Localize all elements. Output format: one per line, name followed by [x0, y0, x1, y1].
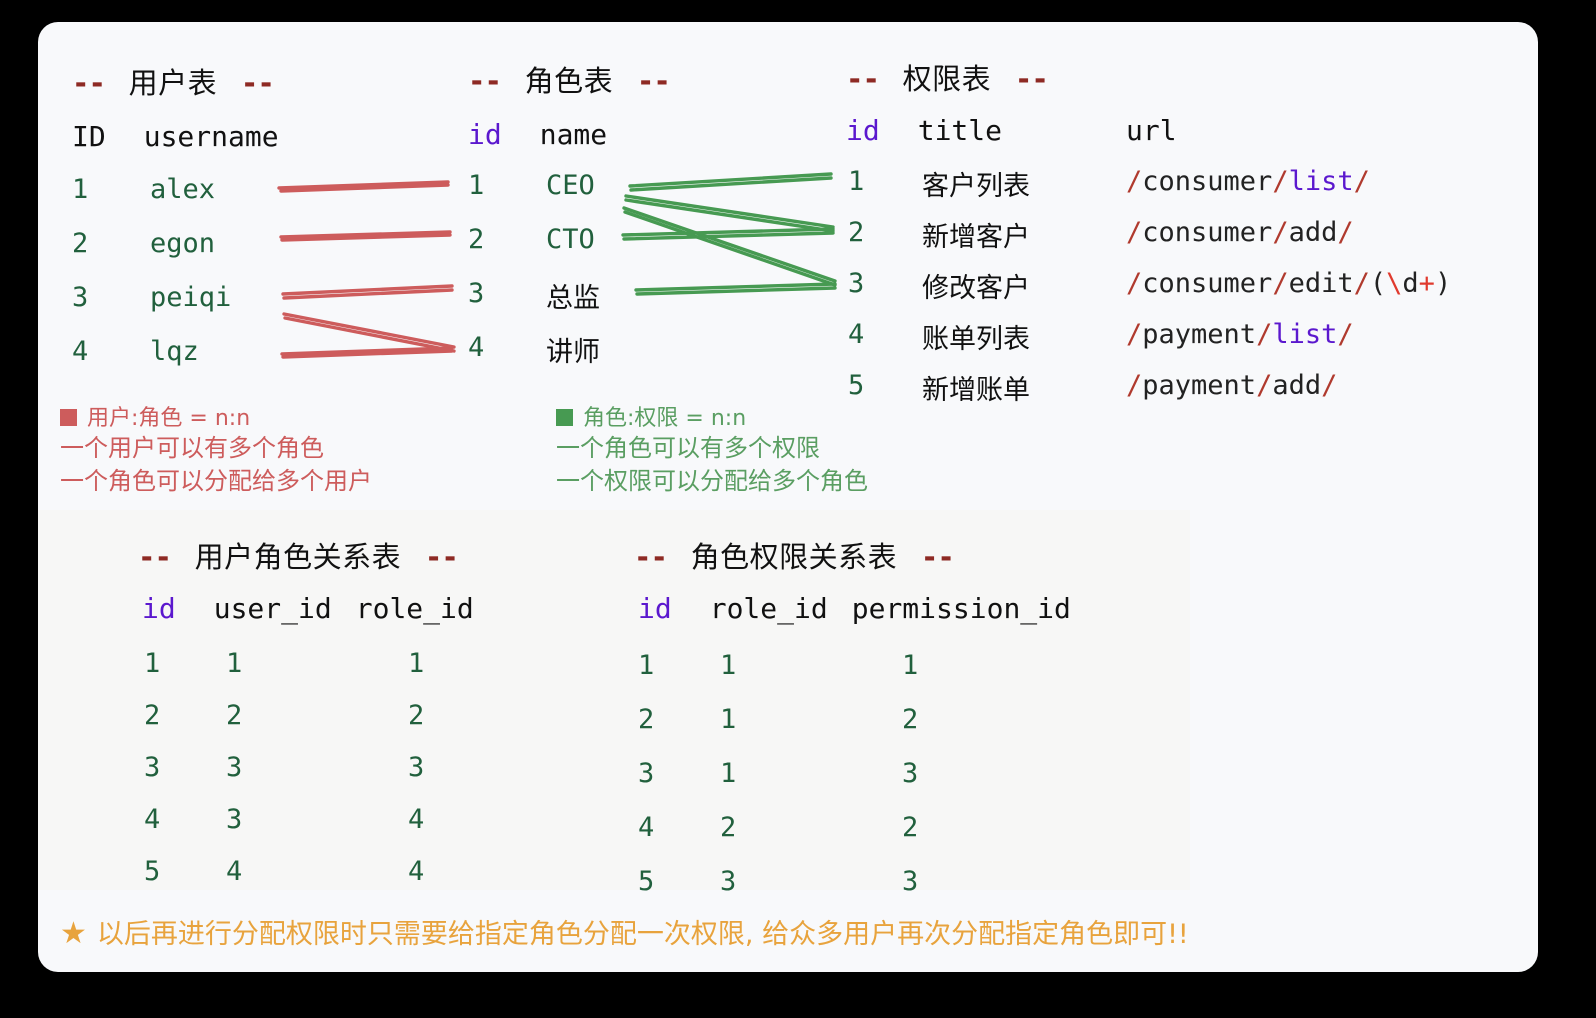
permission-col-id: id: [846, 114, 880, 147]
table-cell: 1: [408, 648, 424, 679]
table-cell: 2: [638, 704, 654, 735]
table-cell: 3: [902, 758, 918, 789]
user-role-table-title-text: 用户角色关系表: [195, 540, 402, 574]
user-table-title: -- 用户表 --: [72, 60, 274, 102]
legend-swatch-green-icon: [556, 409, 573, 426]
dash-marker-right: --: [637, 64, 670, 98]
table-cell: 讲师: [546, 330, 600, 369]
table-cell: 3: [226, 752, 242, 783]
dash-marker-right: --: [241, 66, 274, 100]
table-cell-url: /consumer/add/: [1126, 217, 1354, 248]
table-cell: 4: [144, 804, 160, 835]
permission-table-title: -- 权限表 --: [846, 56, 1048, 98]
dash-marker-left: --: [138, 540, 171, 574]
role-table-header: idname: [468, 118, 607, 151]
table-cell: 总监: [546, 276, 600, 315]
table-cell: 2: [720, 812, 736, 843]
table-cell: 新增客户: [922, 215, 1030, 254]
table-cell: 3: [144, 752, 160, 783]
table-cell: 4: [638, 812, 654, 843]
user-table-header: IDusername: [72, 120, 279, 153]
table-cell: 4: [226, 856, 242, 887]
table-cell: 2: [144, 700, 160, 731]
user-table-title-text: 用户表: [129, 66, 218, 100]
role-permission-links: [623, 174, 835, 294]
table-cell: 3: [902, 866, 918, 897]
user-role-col-user-id: user_id: [214, 592, 332, 625]
table-cell: 3: [468, 278, 484, 309]
table-cell: 3: [720, 866, 736, 897]
legend-swatch-red-icon: [60, 409, 77, 426]
dash-marker-left: --: [634, 540, 667, 574]
role-permission-table-title-text: 角色权限关系表: [691, 540, 898, 574]
legend-user-role-line: 一个角色可以分配给多个用户: [60, 465, 372, 498]
table-cell: 4: [408, 804, 424, 835]
table-cell: 客户列表: [922, 164, 1030, 203]
role-col-id: id: [468, 118, 502, 151]
dash-marker-right: --: [921, 540, 954, 574]
role-table-title-text: 角色表: [525, 64, 614, 98]
table-cell: 3: [848, 268, 864, 299]
table-cell: 新增账单: [922, 368, 1030, 407]
permission-table-header: idtitleurl: [846, 114, 1177, 147]
permission-col-title: title: [918, 114, 1002, 147]
table-cell: 4: [72, 336, 88, 367]
table-cell-url: /payment/add/: [1126, 370, 1337, 401]
table-cell-url: /consumer/edit/(\d+): [1126, 268, 1451, 299]
user-role-col-role-id: role_id: [356, 592, 474, 625]
user-role-table-header: iduser_idrole_id: [142, 592, 474, 625]
table-cell: egon: [150, 228, 215, 259]
legend-role-permission-heading: 角色:权限 = n:n: [583, 406, 746, 431]
table-cell: 1: [638, 650, 654, 681]
table-cell: 修改客户: [922, 266, 1030, 305]
user-role-col-id: id: [142, 592, 176, 625]
table-cell: 2: [468, 224, 484, 255]
dash-marker-right: --: [425, 540, 458, 574]
permission-col-url: url: [1126, 114, 1177, 147]
legend-role-permission-line: 一个权限可以分配给多个角色: [556, 465, 868, 498]
dash-marker-left: --: [846, 62, 879, 96]
dash-marker-left: --: [72, 66, 105, 100]
table-cell: 1: [848, 166, 864, 197]
table-cell: 3: [72, 282, 88, 313]
table-cell: 2: [226, 700, 242, 731]
legend-user-role: 用户:角色 = n:n 一个用户可以有多个角色 一个角色可以分配给多个用户: [60, 400, 372, 497]
table-cell: 2: [902, 704, 918, 735]
user-role-table-title: -- 用户角色关系表 --: [138, 534, 458, 576]
role-permission-table-title: -- 角色权限关系表 --: [634, 534, 954, 576]
table-cell: peiqi: [150, 282, 231, 313]
table-cell: 4: [408, 856, 424, 887]
content-card: -- 用户表 -- IDusername 1 alex 2 egon 3 pei…: [38, 22, 1538, 972]
table-cell: 1: [468, 170, 484, 201]
diagram-canvas: -- 用户表 -- IDusername 1 alex 2 egon 3 pei…: [0, 0, 1596, 1018]
legend-user-role-line: 一个用户可以有多个角色: [60, 432, 372, 465]
table-cell: 3: [638, 758, 654, 789]
table-cell: 1: [144, 648, 160, 679]
legend-user-role-heading: 用户:角色 = n:n: [87, 406, 250, 431]
dash-marker-right: --: [1015, 62, 1048, 96]
footer-note-text: 以后再进行分配权限时只需要给指定角色分配一次权限, 给众多用户再次分配指定角色即…: [97, 919, 1189, 950]
table-cell: 3: [226, 804, 242, 835]
role-permission-table-header: idrole_idpermission_id: [638, 592, 1071, 625]
table-cell: 1: [720, 650, 736, 681]
table-cell: 1: [720, 704, 736, 735]
table-cell: 1: [72, 174, 88, 205]
role-col-name: name: [540, 118, 607, 151]
role-permission-col-role-id: role_id: [710, 592, 828, 625]
table-cell-url: /consumer/list/: [1126, 166, 1370, 197]
table-cell: 1: [720, 758, 736, 789]
permission-table-title-text: 权限表: [903, 62, 992, 96]
table-cell: alex: [150, 174, 215, 205]
user-col-username: username: [144, 120, 279, 153]
table-cell: 1: [226, 648, 242, 679]
role-permission-col-permission-id: permission_id: [852, 592, 1071, 625]
table-cell: 4: [848, 319, 864, 350]
table-cell: 4: [468, 332, 484, 363]
table-cell: 账单列表: [922, 317, 1030, 356]
footer-note: ★以后再进行分配权限时只需要给指定角色分配一次权限, 给众多用户再次分配指定角色…: [60, 912, 1189, 951]
legend-role-permission-line: 一个角色可以有多个权限: [556, 432, 868, 465]
table-cell: 5: [144, 856, 160, 887]
table-cell: 1: [902, 650, 918, 681]
table-cell: 2: [848, 217, 864, 248]
legend-user-role-heading-row: 用户:角色 = n:n: [60, 400, 372, 432]
role-table-title: -- 角色表 --: [468, 58, 670, 100]
user-role-links: [279, 182, 454, 357]
star-icon: ★: [60, 916, 87, 951]
table-cell: 2: [902, 812, 918, 843]
table-cell-url: /payment/list/: [1126, 319, 1354, 350]
table-cell: lqz: [150, 336, 199, 367]
role-permission-col-id: id: [638, 592, 672, 625]
table-cell: 5: [848, 370, 864, 401]
table-cell: CTO: [546, 224, 595, 255]
legend-role-permission-heading-row: 角色:权限 = n:n: [556, 400, 868, 432]
table-cell: CEO: [546, 170, 595, 201]
user-col-id: ID: [72, 120, 106, 153]
table-cell: 2: [408, 700, 424, 731]
table-cell: 3: [408, 752, 424, 783]
legend-role-permission: 角色:权限 = n:n 一个角色可以有多个权限 一个权限可以分配给多个角色: [556, 400, 868, 497]
dash-marker-left: --: [468, 64, 501, 98]
table-cell: 5: [638, 866, 654, 897]
table-cell: 2: [72, 228, 88, 259]
